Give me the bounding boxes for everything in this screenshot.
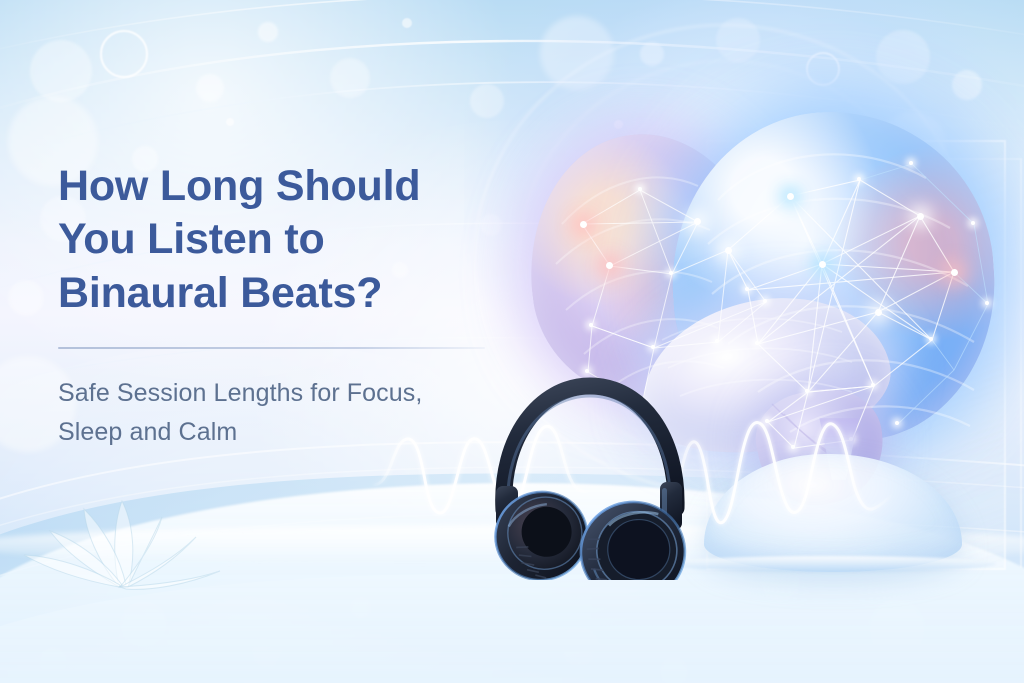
headline-line-2: You Listen to bbox=[58, 215, 325, 263]
banner-copy: How Long Should You Listen to Binaural B… bbox=[58, 160, 528, 451]
subhead-line-1: Safe Session Lengths for Focus, bbox=[58, 379, 422, 407]
headline-line-3: Binaural Beats? bbox=[58, 269, 382, 317]
headline-line-1: How Long Should bbox=[58, 162, 420, 210]
artwork-scene bbox=[504, 0, 1024, 683]
page-subtitle: Safe Session Lengths for Focus, Sleep an… bbox=[58, 374, 528, 452]
lotus-icon bbox=[0, 461, 244, 591]
page-title: How Long Should You Listen to Binaural B… bbox=[58, 160, 528, 320]
hourglass-base-plate bbox=[666, 556, 996, 572]
banner-image: How Long Should You Listen to Binaural B… bbox=[0, 0, 1024, 683]
subhead-line-2: Sleep and Calm bbox=[58, 418, 237, 446]
title-divider bbox=[58, 347, 485, 349]
